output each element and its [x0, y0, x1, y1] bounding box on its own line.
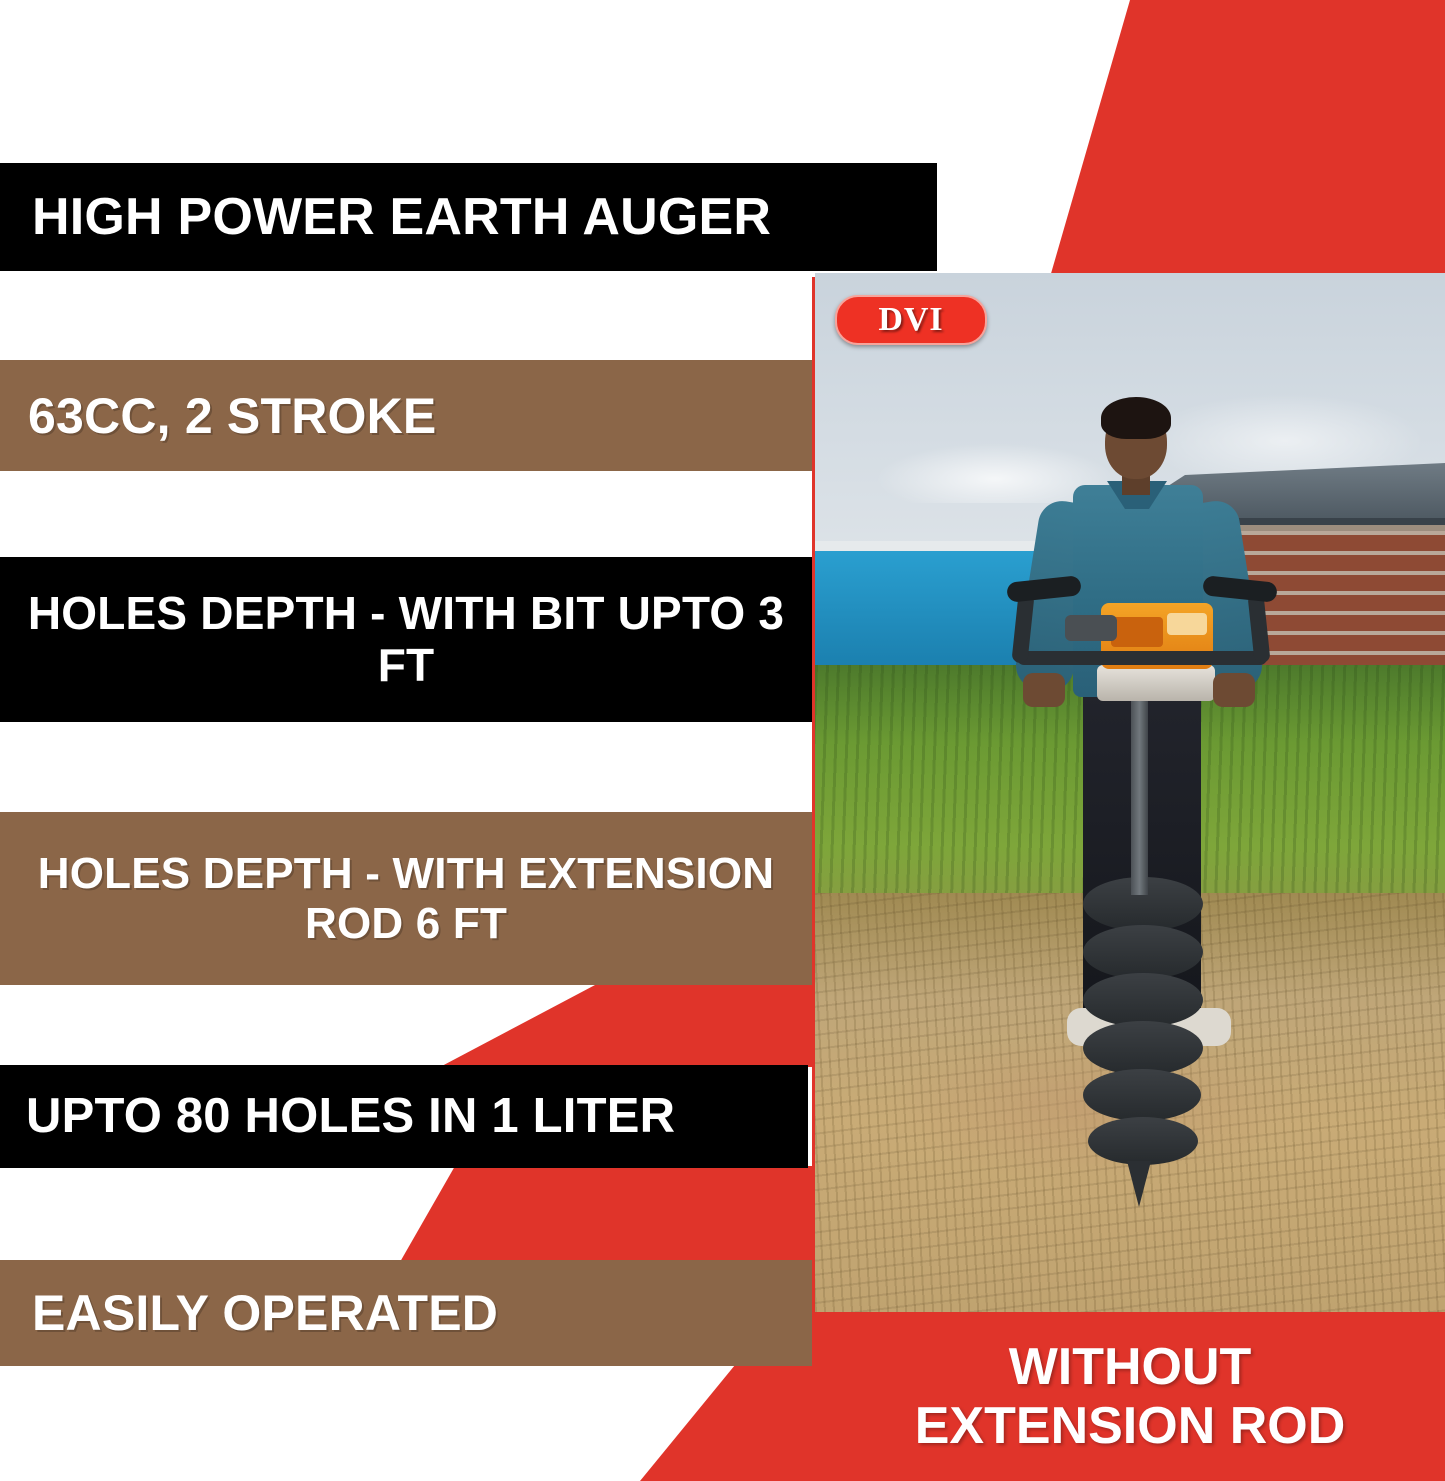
auger-drill-tip — [1127, 1161, 1151, 1207]
feature-label-depth-with-bit: HOLES DEPTH - WITH BIT UPTO 3 FT — [22, 588, 790, 691]
auger-engine-panel — [1111, 617, 1163, 647]
auger-flight — [1083, 1021, 1203, 1075]
feature-bar-ease-of-use: EASILY OPERATED — [0, 1260, 812, 1366]
caption-line-1: WITHOUT — [1009, 1338, 1252, 1396]
feature-bar-depth-with-extension: HOLES DEPTH - WITH EXTENSION ROD 6 FT — [0, 812, 812, 985]
brand-logo-badge: DVI — [835, 295, 987, 345]
auger-flight — [1083, 925, 1203, 979]
feature-bar-depth-with-bit: HOLES DEPTH - WITH BIT UPTO 3 FT — [0, 557, 812, 722]
feature-bar-engine: 63CC, 2 STROKE — [0, 360, 812, 471]
auger-handle-bar — [1017, 651, 1267, 665]
red-chevron-1 — [440, 985, 840, 1067]
operator-left-hand — [1023, 673, 1065, 707]
feature-label-ease-of-use: EASILY OPERATED — [32, 1285, 812, 1341]
red-wedge-top-right — [1050, 0, 1445, 277]
operator-figure — [815, 273, 1445, 1312]
operator-right-hand — [1213, 673, 1255, 707]
operator-hair — [1101, 397, 1171, 439]
page-title-bar: HIGH POWER EARTH AUGER — [0, 163, 937, 271]
page-title: HIGH POWER EARTH AUGER — [32, 188, 937, 246]
product-photo: DVI — [815, 273, 1445, 1312]
red-chevron-2 — [400, 1166, 840, 1262]
red-chevron-3 — [640, 1365, 840, 1481]
feature-label-fuel-efficiency: UPTO 80 HOLES IN 1 LITER — [26, 1089, 808, 1144]
feature-label-engine: 63CC, 2 STROKE — [28, 388, 812, 444]
feature-bar-fuel-efficiency: UPTO 80 HOLES IN 1 LITER — [0, 1065, 808, 1168]
feature-label-depth-with-extension: HOLES DEPTH - WITH EXTENSION ROD 6 FT — [14, 849, 798, 948]
infographic-page: HIGH POWER EARTH AUGER 63CC, 2 STROKE HO… — [0, 0, 1445, 1481]
caption-line-2: EXTENSION ROD — [915, 1397, 1346, 1455]
auger-flight — [1083, 973, 1203, 1027]
auger-flight — [1083, 1069, 1201, 1121]
photo-caption-banner: WITHOUT EXTENSION ROD — [815, 1312, 1445, 1481]
auger-air-filter — [1167, 613, 1207, 635]
auger-upper-shaft — [1131, 699, 1148, 895]
brand-logo-text: DVI — [878, 301, 943, 339]
auger-gearbox — [1097, 665, 1215, 701]
auger-flight — [1088, 1117, 1198, 1165]
auger-muffler — [1065, 615, 1117, 641]
